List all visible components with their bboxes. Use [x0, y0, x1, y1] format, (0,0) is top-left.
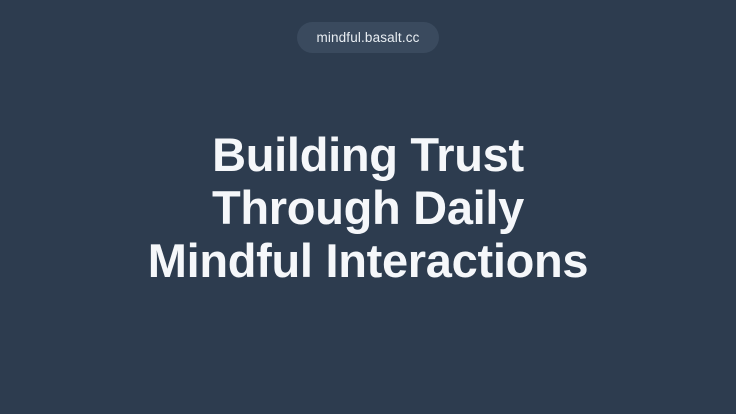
page-title: Building Trust Through Daily Mindful Int…	[128, 128, 609, 287]
site-url-badge-label: mindful.basalt.cc	[316, 31, 419, 45]
badge-row: mindful.basalt.cc	[0, 22, 736, 53]
page-title-line-3: Mindful Interactions	[148, 234, 589, 287]
page-title-line-1: Building Trust	[148, 128, 589, 181]
title-slide: mindful.basalt.cc Building Trust Through…	[0, 0, 736, 414]
page-title-line-2: Through Daily	[148, 181, 589, 234]
hero-section: Building Trust Through Daily Mindful Int…	[0, 0, 736, 414]
site-url-badge[interactable]: mindful.basalt.cc	[297, 22, 438, 53]
